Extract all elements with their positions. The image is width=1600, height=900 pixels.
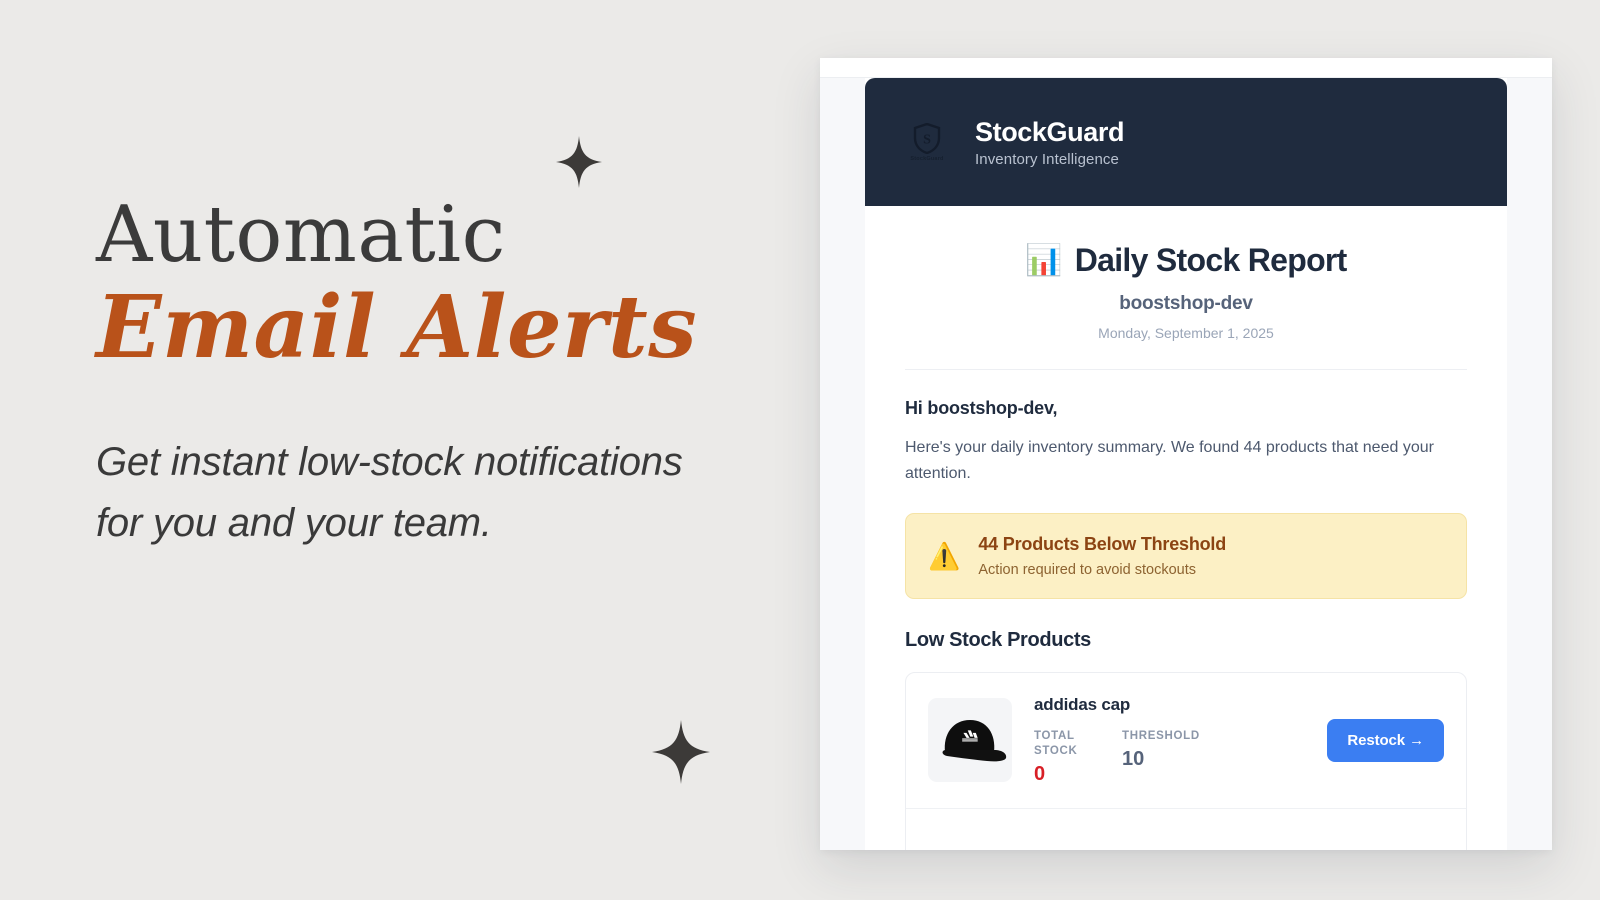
shield-logo-caption: StockGuard: [910, 156, 943, 162]
alert-text-block: 44 Products Below Threshold Action requi…: [978, 534, 1226, 578]
sparkle-icon: [556, 136, 602, 188]
window-chrome-bar: [820, 58, 1552, 78]
headline-line-primary: Automatic: [96, 196, 776, 274]
metric-total-stock: TOTAL STOCK 0: [1034, 729, 1096, 786]
metric-label-total-stock: TOTAL STOCK: [1034, 729, 1096, 759]
alert-subtitle: Action required to avoid stockouts: [978, 562, 1226, 578]
brand-name: StockGuard: [975, 117, 1124, 148]
report-date: Monday, September 1, 2025: [905, 325, 1467, 341]
metric-label-threshold: THRESHOLD: [1122, 729, 1184, 744]
svg-text:S: S: [923, 132, 931, 147]
email-brand-header: S StockGuard StockGuard Inventory Intell…: [865, 78, 1507, 206]
shield-logo-icon: S StockGuard: [903, 118, 951, 166]
brand-tagline: Inventory Intelligence: [975, 151, 1124, 168]
intro-text: Here's your daily inventory summary. We …: [905, 435, 1435, 487]
email-canvas: S StockGuard StockGuard Inventory Intell…: [820, 78, 1552, 850]
bar-chart-icon: 📊: [1025, 246, 1062, 276]
email-preview-window: S StockGuard StockGuard Inventory Intell…: [820, 58, 1552, 850]
email-body: Hi boostshop-dev, Here's your daily inve…: [865, 370, 1507, 487]
brand-text-block: StockGuard Inventory Intelligence: [975, 117, 1124, 168]
sparkle-icon: [652, 720, 710, 784]
product-info: addidas cap TOTAL STOCK 0 THRESHOLD 10: [1034, 695, 1305, 786]
restock-button[interactable]: Restock →: [1327, 719, 1444, 762]
email-card: S StockGuard StockGuard Inventory Intell…: [865, 78, 1507, 850]
metric-value-threshold: 10: [1122, 748, 1184, 771]
product-thumbnail: [928, 698, 1012, 782]
store-name: boostshop-dev: [905, 293, 1467, 315]
metric-threshold: THRESHOLD 10: [1122, 729, 1184, 786]
headline-line-accent: Email Alerts: [96, 280, 776, 376]
threshold-alert-banner: ⚠️ 44 Products Below Threshold Action re…: [905, 513, 1467, 599]
product-row[interactable]: addidas cap TOTAL STOCK 0 THRESHOLD 10: [906, 673, 1466, 809]
product-row[interactable]: [906, 809, 1466, 850]
warning-triangle-icon: ⚠️: [928, 543, 960, 569]
promo-headline: Automatic Email Alerts: [96, 196, 776, 376]
report-title: Daily Stock Report: [1075, 242, 1347, 279]
product-metrics: TOTAL STOCK 0 THRESHOLD 10: [1034, 729, 1305, 786]
report-title-row: 📊 Daily Stock Report: [905, 242, 1467, 279]
promo-pane: Automatic Email Alerts Get instant low-s…: [0, 0, 820, 900]
low-stock-section-title: Low Stock Products: [905, 629, 1467, 652]
product-name: addidas cap: [1034, 695, 1305, 715]
alert-title: 44 Products Below Threshold: [978, 534, 1226, 555]
greeting-text: Hi boostshop-dev,: [905, 398, 1467, 419]
low-stock-product-list: addidas cap TOTAL STOCK 0 THRESHOLD 10: [905, 672, 1467, 850]
report-header: 📊 Daily Stock Report boostshop-dev Monda…: [865, 206, 1507, 341]
metric-value-total-stock: 0: [1034, 763, 1096, 786]
promo-subheadline: Get instant low-stock notifications for …: [96, 432, 696, 554]
